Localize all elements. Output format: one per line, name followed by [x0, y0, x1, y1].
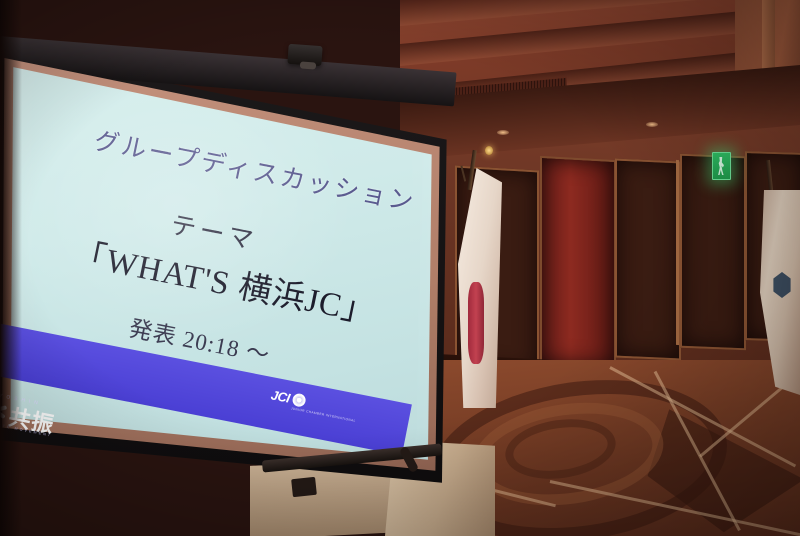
projector-lens-icon [300, 61, 316, 69]
hinomaru-disc [468, 282, 484, 364]
screen-stand-foot [291, 477, 317, 497]
left-shadow [0, 0, 22, 536]
door-divider [676, 160, 679, 345]
emergency-exit-sign [712, 152, 731, 180]
flag-finial-icon [485, 146, 493, 155]
photo-scene: JCI JUNIOR CHAMBER INTERNATIONAL KYOSHIN… [0, 0, 800, 536]
slide-schedule: 発表 20:18 〜 [127, 309, 274, 370]
downlight [646, 122, 658, 127]
door-panel[interactable] [615, 159, 681, 361]
downlight [497, 130, 509, 135]
door-panel[interactable] [680, 154, 746, 351]
projection-screen: JCI JUNIOR CHAMBER INTERNATIONAL KYOSHIN… [0, 22, 456, 502]
running-person-icon [718, 157, 725, 175]
red-curtain-panel [540, 156, 616, 369]
